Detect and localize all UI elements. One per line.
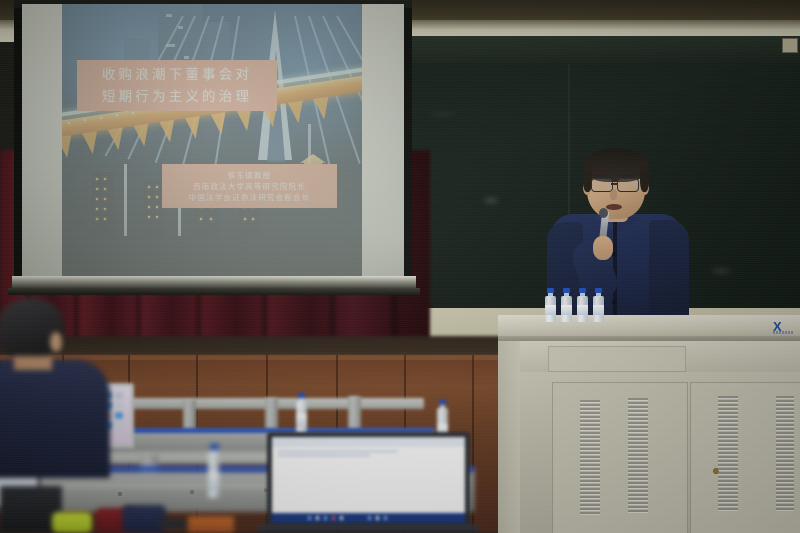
foreground-silhouette xyxy=(288,240,328,256)
eyeglasses-lens-right xyxy=(617,178,639,192)
water-bottle[interactable] xyxy=(561,288,572,322)
slide-credit-line-3: 中国法学会证券法研究会副会长 xyxy=(189,192,311,203)
distant-building xyxy=(144,180,164,238)
shirt-button xyxy=(612,252,617,257)
podium-door-left[interactable] xyxy=(552,382,688,533)
water-bottle[interactable] xyxy=(545,288,556,322)
window-light xyxy=(166,14,172,17)
slide-credit-line-1: 侯东德教授 xyxy=(228,170,271,181)
chalkboard-smudge xyxy=(484,198,498,203)
hair-sideburn-right xyxy=(640,164,649,192)
podium-vent-slats xyxy=(580,400,600,516)
green-object xyxy=(52,512,92,533)
logo-wordmark xyxy=(773,331,793,334)
water-bottle[interactable] xyxy=(296,393,309,435)
laptop-document-display[interactable] xyxy=(272,437,465,523)
podium-band-inset xyxy=(548,346,686,372)
podium-left-face xyxy=(498,341,522,533)
shirt-button xyxy=(612,300,617,305)
nose xyxy=(610,189,617,200)
chalkboard-corner-chip xyxy=(782,38,798,53)
slide-title-line-1: 收购浪潮下董事会对 xyxy=(102,64,252,86)
laptop-document-keyboard[interactable] xyxy=(258,525,478,533)
attendee-shoulder xyxy=(0,382,32,478)
desk-backrail-mid xyxy=(94,398,424,409)
desk-surface-strip xyxy=(188,516,234,533)
slide-title-box: 收购浪潮下董事会对 短期行为主义的治理 xyxy=(77,60,277,111)
chalkboard-smudge xyxy=(430,112,456,116)
attendee-foreground xyxy=(0,298,114,478)
podium-vent-slats xyxy=(628,398,648,514)
attendee-ear xyxy=(50,332,62,352)
podium-vent-slats xyxy=(718,396,738,512)
presenter-hand xyxy=(593,236,613,260)
water-bottle[interactable] xyxy=(593,288,604,322)
eyebrow-left xyxy=(592,174,610,177)
water-bottle[interactable] xyxy=(208,444,224,500)
desk-screw xyxy=(118,492,122,496)
mouth xyxy=(606,204,622,210)
chalkboard-smudge xyxy=(712,268,730,274)
microphone-head xyxy=(599,208,608,218)
slide-credit-line-2: 西南政法大学高等研究院院长 xyxy=(193,181,306,192)
slide-title-line-2: 短期行为主义的治理 xyxy=(102,86,252,108)
water-bottle[interactable] xyxy=(577,288,588,322)
window-light xyxy=(184,56,189,59)
slide-background-photo xyxy=(62,4,362,276)
window-light xyxy=(178,26,183,29)
phone-object xyxy=(158,519,188,529)
projection-screen-weight-bar xyxy=(8,288,420,295)
desk-post xyxy=(348,396,361,430)
desk-screw xyxy=(190,490,194,494)
projection-screen-surface[interactable]: 收购浪潮下董事会对 短期行为主义的治理 侯东德教授 西南政法大学高等研究院院长 … xyxy=(22,4,404,276)
distant-building xyxy=(92,172,114,238)
eyebrow-right xyxy=(618,174,636,177)
podium-vent-slats xyxy=(776,396,794,512)
chalkboard-top-rail xyxy=(398,36,800,63)
eyeglasses-bridge xyxy=(611,183,617,185)
podium-brand-logo: X xyxy=(773,321,790,334)
light-spire xyxy=(124,164,127,236)
desk-post xyxy=(265,398,278,432)
slide-credit-box: 侯东德教授 西南政法大学高等研究院院长 中国法学会证券法研究会副会长 xyxy=(162,164,337,208)
lecture-hall-photo: 收购浪潮下董事会对 短期行为主义的治理 侯东德教授 西南政法大学高等研究院院长 … xyxy=(0,0,800,533)
presenter-shoulder-right xyxy=(649,220,689,320)
